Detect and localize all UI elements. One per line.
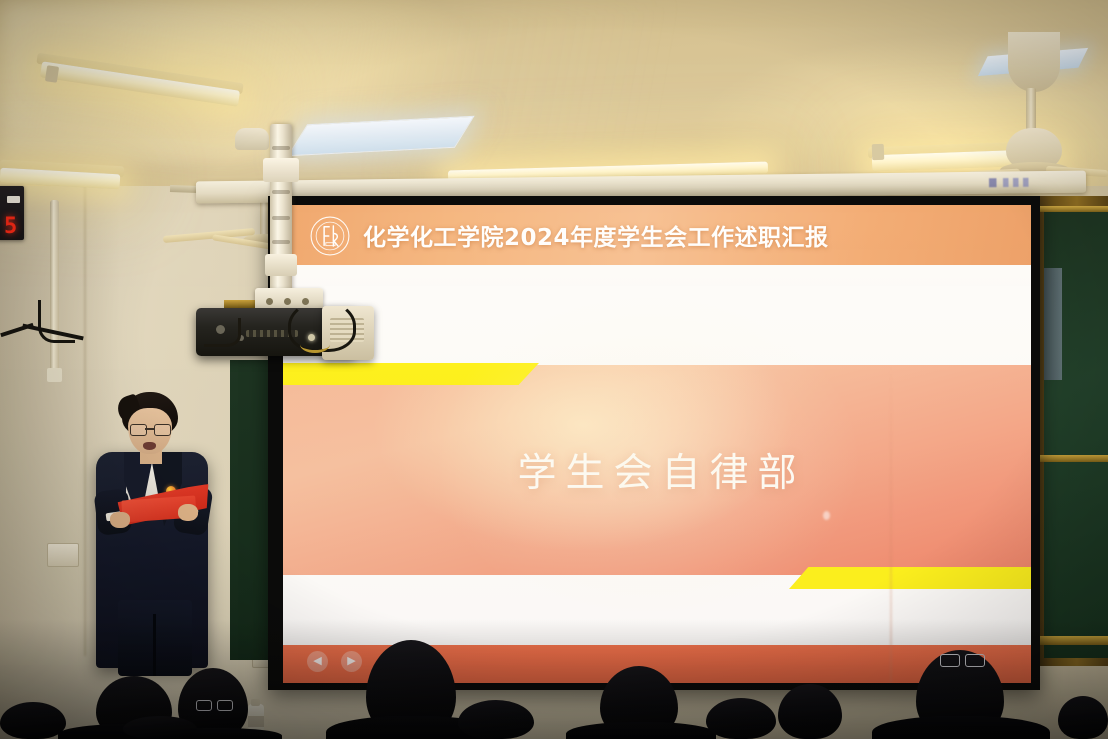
presenter-leg-gap: [153, 614, 156, 676]
photo-scene: 5 · · · · · · · · 化学化工学院2024年度学生会工作述职汇报: [0, 0, 1108, 739]
audience-head: [0, 702, 66, 739]
ceiling-fan-right-canopy: [1008, 32, 1060, 92]
led-clock-digit: 5: [4, 216, 17, 238]
audience-shoulders: [566, 722, 716, 739]
chalkboard-bottom-rail: [1036, 636, 1108, 645]
projection-screen: · · · · · · · · 化学化工学院2024年度学生会工作述职汇报 学生…: [283, 205, 1031, 683]
pole-segment: [272, 146, 290, 150]
pole-segment: [272, 190, 290, 194]
pole-collar: [265, 254, 297, 276]
projector-cable-gold: [300, 336, 330, 353]
roller-brand-logo-icon: [989, 178, 1035, 188]
chalkboard-mid-rail: [1038, 455, 1108, 462]
presenter-hand: [110, 512, 130, 528]
bottle-label: [248, 716, 264, 727]
projector-cable: [204, 318, 241, 347]
mount-hole: [284, 298, 291, 305]
audience-head: [778, 684, 842, 739]
slide-title: 化学化工学院2024年度学生会工作述职汇报: [363, 205, 829, 265]
pole-collar: [263, 158, 299, 182]
slide-white-band-upper: [283, 265, 1031, 365]
svg-text:· · ·: · · ·: [328, 252, 332, 255]
wall-mount-pole: [50, 200, 59, 380]
projector-mount-pole: [270, 124, 292, 304]
university-emblem-icon: · · · · · · · ·: [309, 215, 351, 257]
presenter-hand: [178, 504, 198, 521]
slide-subject-text: 学生会自律部: [283, 365, 1031, 575]
light-bracket: [45, 65, 59, 83]
audience-shoulders: [872, 716, 1050, 739]
wall-seam: [84, 186, 86, 656]
chalkboard-sliding-panel[interactable]: [1044, 268, 1062, 380]
projector-ceiling-mount: [235, 128, 269, 150]
audience-head: [123, 716, 197, 739]
next-slide-button[interactable]: ▶: [341, 651, 362, 672]
wall-socket[interactable]: [47, 543, 79, 567]
screen-seam: [890, 365, 892, 683]
audience-head: [458, 700, 534, 739]
led-clock-indicator: [7, 196, 20, 203]
bottle-cap: [251, 699, 260, 706]
pole-segment: [272, 240, 290, 244]
glasses-icon: [130, 424, 170, 434]
presenter-mouth: [143, 442, 156, 450]
svg-text:· · · · ·: · · · · ·: [326, 220, 334, 224]
light-bracket: [872, 144, 885, 160]
glasses-icon: [196, 700, 232, 710]
chalkboard-top-rail: [1036, 206, 1108, 212]
wall-mount-collar: [47, 368, 62, 382]
audience-head: [1058, 696, 1108, 739]
prev-slide-button[interactable]: ◀: [307, 651, 328, 672]
screen-dust-speck: [823, 511, 830, 520]
glasses-icon: [940, 654, 986, 664]
mount-hole: [266, 298, 273, 305]
audience-head: [706, 698, 776, 739]
pole-segment: [272, 216, 290, 220]
